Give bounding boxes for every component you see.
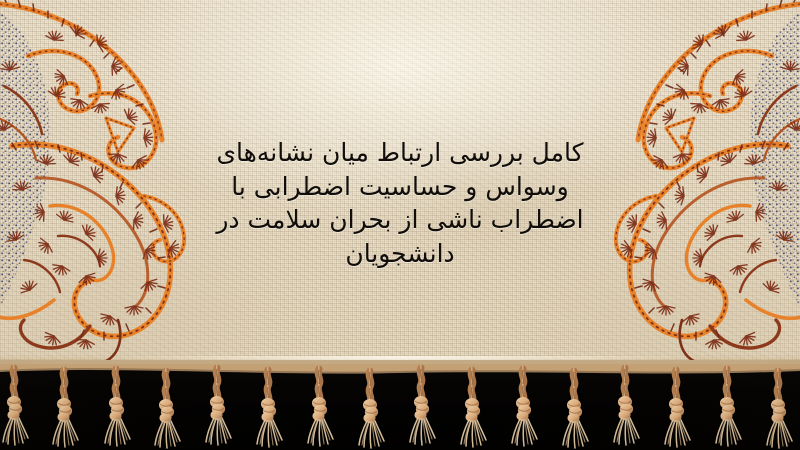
tassel-fringe (0, 360, 800, 450)
title-line-3: اضطراب ناشی از بحران سلامت در (120, 203, 680, 237)
title-line-4: دانشجویان (120, 237, 680, 271)
fringe-svg (0, 360, 800, 450)
title-line-1: کامل بررسی ارتباط میان نشانه‌های (120, 136, 680, 170)
tassel-row (3, 368, 792, 448)
title-slide: کامل بررسی ارتباط میان نشانه‌های وسواس و… (0, 0, 800, 450)
slide-title: کامل بررسی ارتباط میان نشانه‌های وسواس و… (120, 136, 680, 270)
title-line-2: وسواس و حساسیت اضطرابی با (120, 170, 680, 204)
